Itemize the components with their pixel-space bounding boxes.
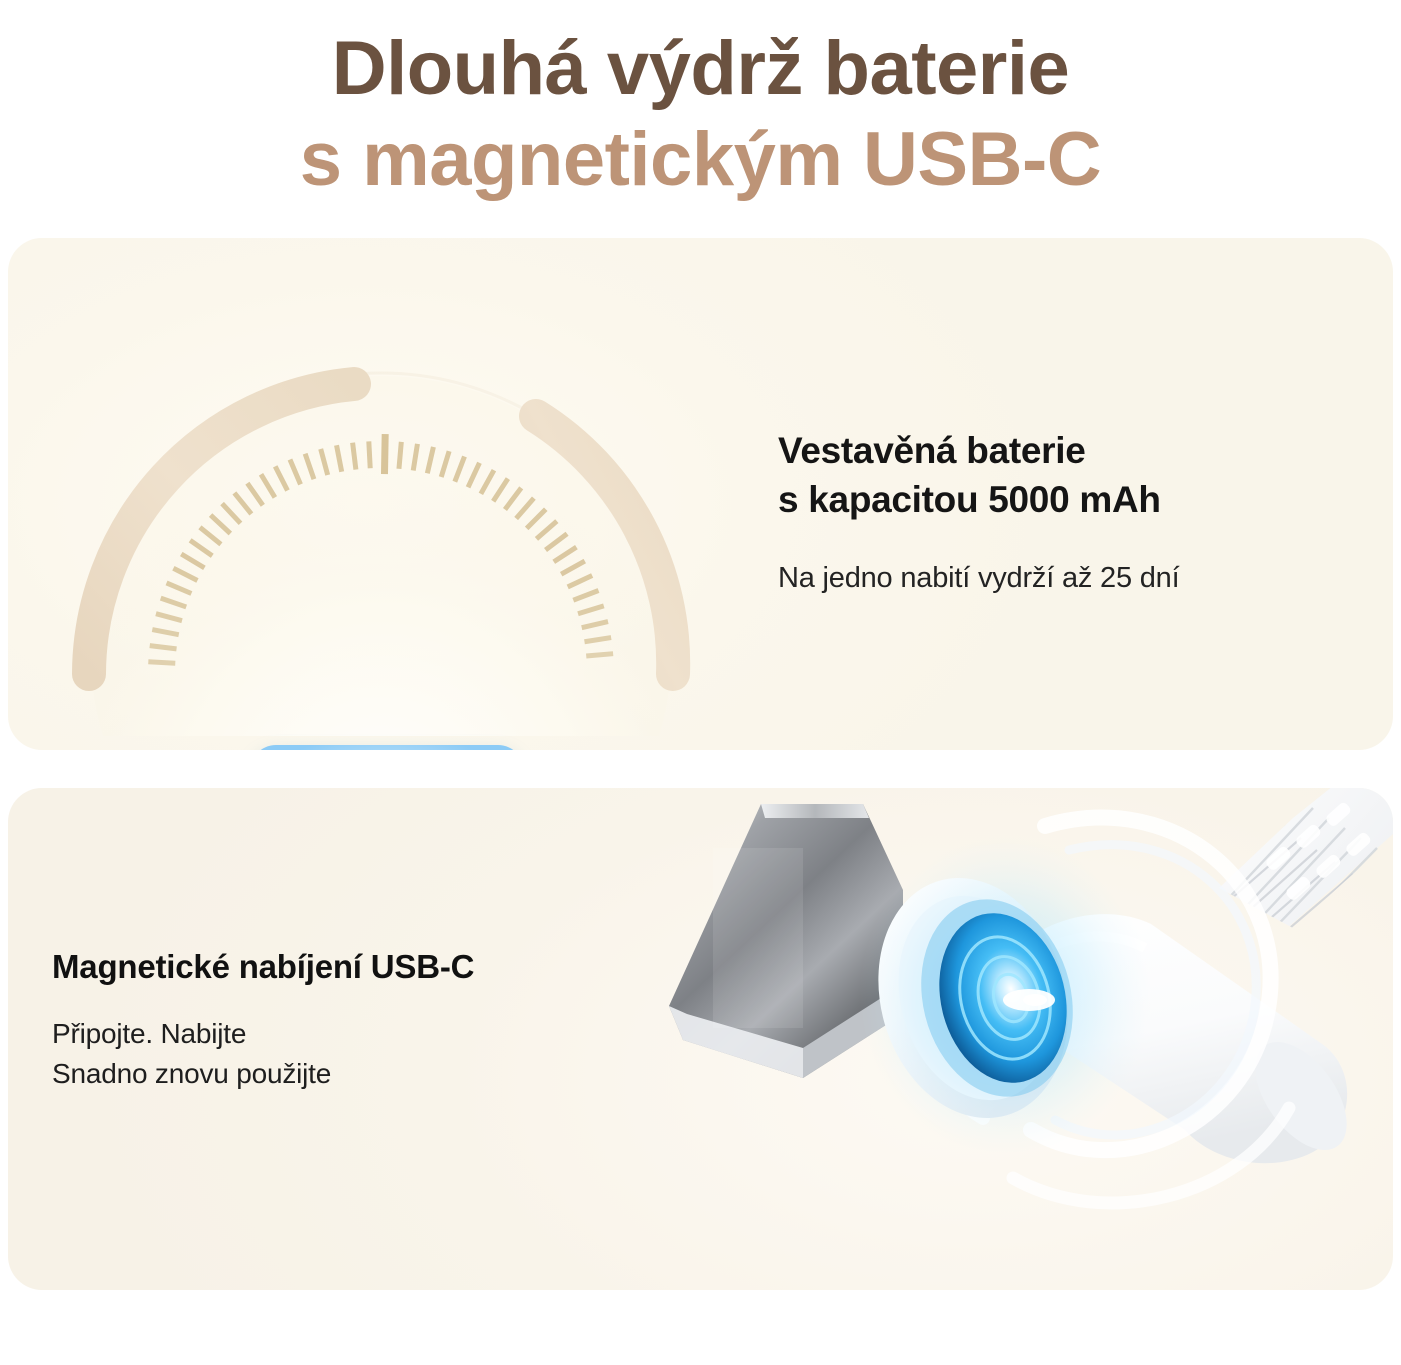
battery-card-heading-line-1: Vestavěná baterie — [778, 426, 1358, 475]
page-title-line-1: Dlouhá výdrž baterie — [0, 26, 1401, 111]
magnet-card-heading: Magnetické nabíjení USB-C — [52, 948, 692, 986]
magnet-card-text: Magnetické nabíjení USB-C Připojte. Nabi… — [52, 948, 692, 1094]
connector-svg — [653, 788, 1393, 1290]
battery-card-heading: Vestavěná baterie s kapacitou 5000 mAh — [778, 426, 1358, 524]
battery-body — [250, 745, 524, 750]
magnet-card-subtitle-line-1: Připojte. Nabijte — [52, 1014, 692, 1054]
page-title-line-2: s magnetickým USB-C — [0, 117, 1401, 202]
card-magnetic-charging: Magnetické nabíjení USB-C Připojte. Nabi… — [8, 788, 1393, 1290]
battery-card-subtitle: Na jedno nabití vydrží až 25 dní — [778, 560, 1358, 598]
card-battery-capacity: Vestavěná baterie s kapacitou 5000 mAh N… — [8, 238, 1393, 750]
magnet-card-subtitle: Připojte. Nabijte Snadno znovu použijte — [52, 1014, 692, 1094]
battery-card-heading-line-2: s kapacitou 5000 mAh — [778, 475, 1358, 524]
magnetic-usbc-connector-illustration — [653, 788, 1393, 1290]
battery-icon — [250, 745, 546, 750]
magnet-card-subtitle-line-2: Snadno znovu použijte — [52, 1054, 692, 1094]
braided-cable — [1179, 788, 1393, 956]
battery-gauge-illustration — [36, 256, 726, 736]
battery-card-text: Vestavěná baterie s kapacitou 5000 mAh N… — [778, 426, 1358, 598]
page-title: Dlouhá výdrž baterie s magnetickým USB-C — [0, 0, 1401, 232]
gauge-svg — [36, 256, 726, 736]
magnetic-glow-core — [859, 836, 1151, 1156]
